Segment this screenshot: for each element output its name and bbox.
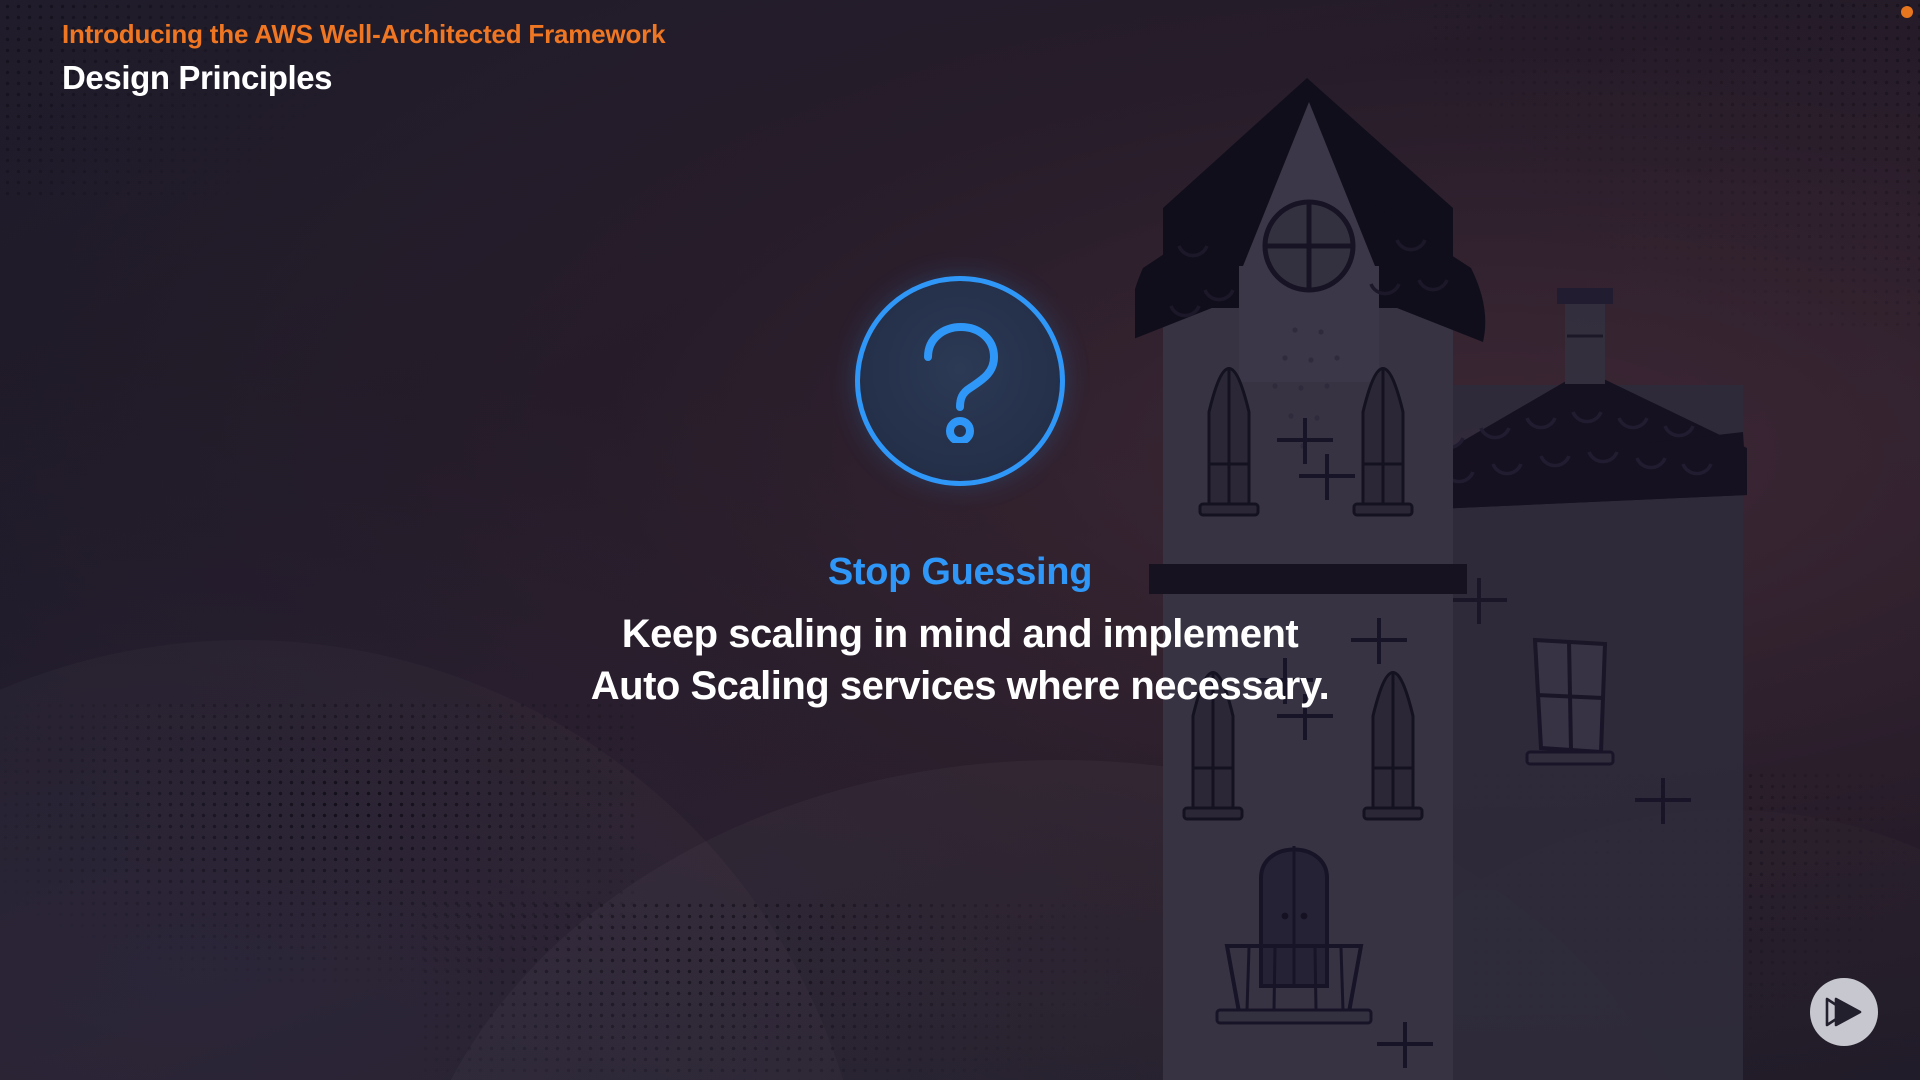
halftone-texture-lowleft [420, 900, 1160, 1080]
slide-header: Introducing the AWS Well-Architected Fra… [62, 18, 665, 100]
content-body-line-1: Keep scaling in mind and implement [622, 608, 1298, 661]
question-mark-circle-icon [855, 276, 1065, 486]
slide-content: Stop Guessing Keep scaling in mind and i… [0, 276, 1920, 713]
course-eyebrow-label: Introducing the AWS Well-Architected Fra… [62, 18, 665, 51]
page-title: Design Principles [62, 56, 665, 100]
halftone-texture-midleft [0, 700, 640, 1000]
content-body-line-2: Auto Scaling services where necessary. [591, 660, 1329, 713]
content-headline: Stop Guessing [828, 550, 1092, 596]
orange-dot-marker [1901, 6, 1913, 18]
pluralsight-play-logo [1810, 978, 1878, 1046]
slide-canvas: Introducing the AWS Well-Architected Fra… [0, 0, 1920, 1080]
